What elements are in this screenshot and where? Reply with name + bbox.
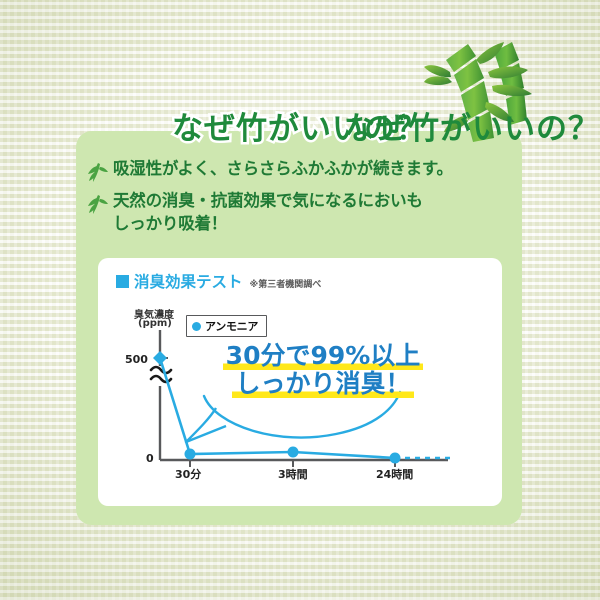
- list-item: 吸湿性がよく、さらさらふかふかが続きます。: [88, 158, 528, 183]
- data-point-marker: [288, 447, 299, 458]
- chart-plot-area: 臭気濃度 (ppm) アンモニア 500 0 30分 3時間 24時間: [98, 258, 502, 506]
- bamboo-leaf-icon: [88, 193, 108, 215]
- series-line-ammonia: [160, 358, 395, 458]
- bamboo-stalks-icon: [424, 30, 540, 142]
- chart-card: 消臭効果テスト ※第三者機関調べ 臭気濃度 (ppm) アンモニア 500 0 …: [98, 258, 502, 506]
- data-point-marker: [185, 449, 196, 460]
- callout-swoosh: [204, 392, 400, 438]
- list-item-label: 天然の消臭・抗菌効果で気になるにおいも しっかり吸着！: [113, 190, 423, 236]
- data-point-marker: [153, 351, 167, 365]
- list-item: 天然の消臭・抗菌効果で気になるにおいも しっかり吸着！: [88, 190, 528, 236]
- chart-svg: [98, 258, 502, 506]
- benefits-list: 吸湿性がよく、さらさらふかふかが続きます。 天然の消臭・抗菌効果で気になるにおい…: [88, 158, 528, 243]
- callout-tail: [186, 408, 226, 442]
- bamboo-leaf-icon: [88, 161, 108, 183]
- promo-infographic: なぜ竹がいいの？ なぜ竹がいいの？ 吸湿性がよく、さらさらふかふかが続きます。: [0, 0, 600, 600]
- list-item-label: 吸湿性がよく、さらさらふかふかが続きます。: [113, 158, 453, 181]
- data-point-marker: [390, 453, 401, 464]
